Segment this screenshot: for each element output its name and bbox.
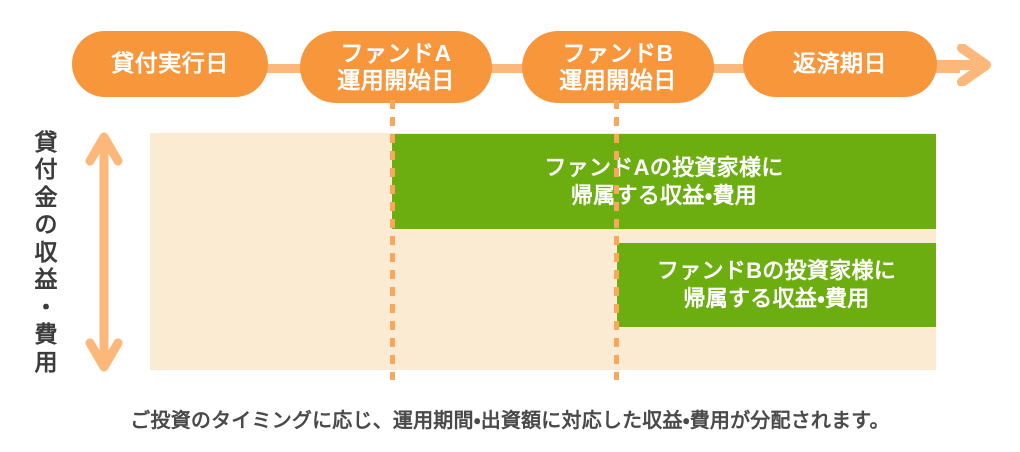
vertical-axis-label-char: 収 bbox=[35, 240, 58, 264]
fund-b-band-label-line1: ファンドBの投資家様に bbox=[657, 257, 896, 285]
fund-a-revenue-band: ファンドAの投資家様に 帰属する収益・費用 bbox=[392, 134, 936, 229]
timeline-milestone-loan-execution[interactable]: 貸付実行日 bbox=[72, 31, 268, 97]
timeline-milestone-fund-b-start[interactable]: ファンドB 運用開始日 bbox=[522, 31, 714, 103]
dashed-guide-fund-a-start bbox=[390, 100, 395, 380]
milestone-label-line1: 貸付実行日 bbox=[111, 50, 229, 76]
double-arrow-vertical-icon bbox=[84, 128, 124, 376]
vertical-axis-label-char: 用 bbox=[35, 350, 58, 374]
milestone-label-line2: 運用開始日 bbox=[559, 67, 677, 94]
vertical-axis-label-char: の bbox=[35, 212, 58, 236]
milestone-label-line2: 運用開始日 bbox=[337, 67, 455, 94]
timeline-milestone-fund-a-start[interactable]: ファンドA 運用開始日 bbox=[300, 31, 492, 103]
fund-b-revenue-band: ファンドBの投資家様に 帰属する収益・費用 bbox=[617, 243, 936, 327]
timeline-milestone-repayment-date[interactable]: 返済期日 bbox=[743, 31, 937, 97]
loan-revenue-allocation-diagram: 貸付実行日 ファンドA 運用開始日 ファンドB 運用開始日 返済期日 貸 付 金… bbox=[0, 0, 1020, 452]
diagram-caption: ご投資のタイミングに応じ、運用期間・出資額に対応した収益・費用が分配されます。 bbox=[0, 404, 1020, 433]
vertical-axis-label-char: 金 bbox=[35, 185, 58, 209]
fund-a-band-label-line2: 帰属する収益・費用 bbox=[571, 182, 757, 210]
dashed-guide-fund-b-start bbox=[614, 100, 619, 380]
fund-b-band-label-line2: 帰属する収益・費用 bbox=[683, 285, 869, 313]
vertical-axis-label-char: 貸 bbox=[35, 130, 58, 154]
milestone-label-line1: 返済期日 bbox=[793, 50, 887, 76]
milestone-label-line1: ファンドB bbox=[562, 40, 673, 66]
arrow-right-icon bbox=[930, 44, 992, 86]
vertical-axis-label-char: ・ bbox=[35, 295, 58, 319]
milestone-label-line1: ファンドA bbox=[340, 40, 451, 66]
vertical-axis-label-char: 付 bbox=[35, 157, 58, 181]
vertical-axis-label-char: 益 bbox=[35, 267, 58, 291]
vertical-axis-label: 貸 付 金 の 収 益 ・ 費 用 bbox=[28, 130, 64, 374]
vertical-axis-label-char: 費 bbox=[35, 322, 58, 346]
fund-a-band-label-line1: ファンドAの投資家様に bbox=[544, 154, 783, 182]
